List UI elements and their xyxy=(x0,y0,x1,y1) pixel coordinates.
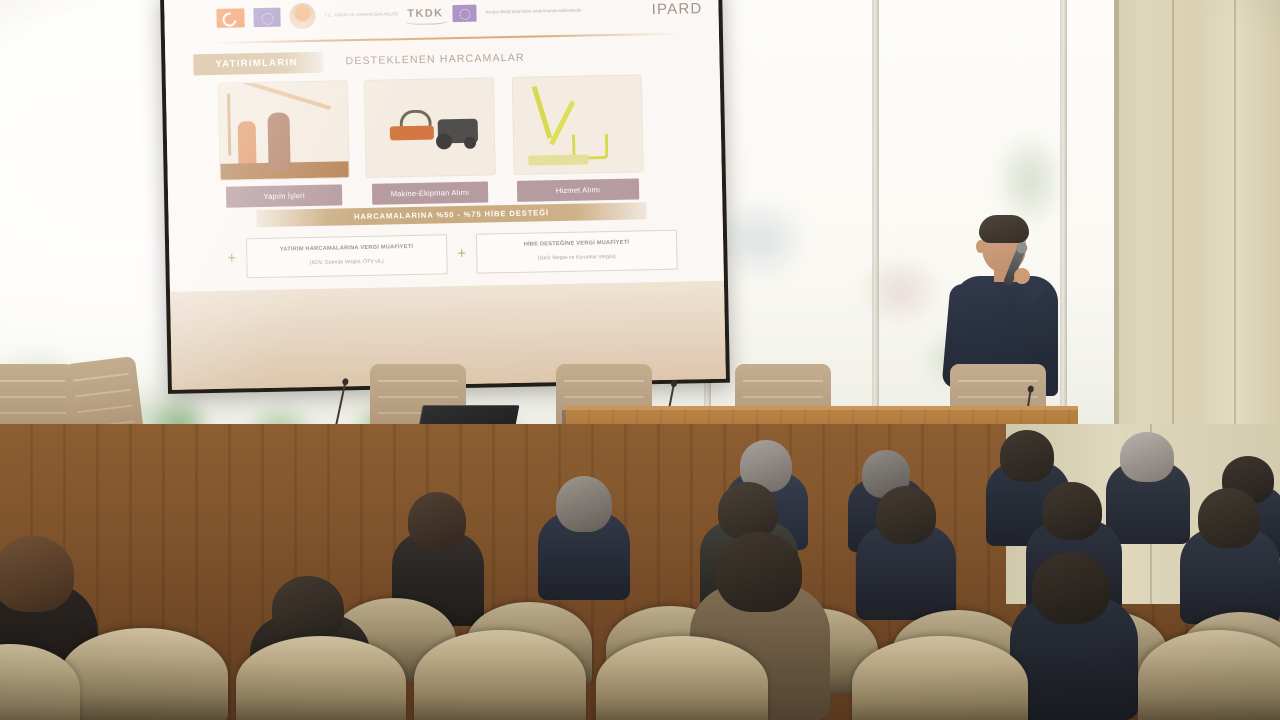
slide-card: Yapım İşleri xyxy=(218,80,348,203)
speaker-hair xyxy=(979,215,1029,243)
audience-head xyxy=(876,486,936,544)
wall-panel-seam xyxy=(1234,0,1236,470)
slide-benefit-row: + YATIRIM HARCAMALARINA VERGİ MUAFİYETİ … xyxy=(227,230,678,279)
benefit-title: HİBE DESTEĞİNE VERGİ MUAFİYETİ xyxy=(483,238,670,251)
implement xyxy=(390,126,434,141)
crane-mast xyxy=(227,94,231,156)
slide-benefit-box: YATIRIM HARCAMALARINA VERGİ MUAFİYETİ (K… xyxy=(246,234,448,278)
speaker-ear xyxy=(976,240,985,253)
turkey-flag-icon xyxy=(216,8,244,28)
screen-surface: T.C. TARIM VE ORMAN BAKANLIĞI TKDK Avrup… xyxy=(164,0,726,390)
speaker-right-hand xyxy=(1014,268,1030,284)
slide-logo-bar: T.C. TARIM VE ORMAN BAKANLIĞI TKDK Avrup… xyxy=(164,0,719,42)
ministry-label: T.C. TARIM VE ORMAN BAKANLIĞI xyxy=(324,11,398,19)
slide-card: Hizmet Alımı xyxy=(512,74,642,197)
slide-header-rest: DESTEKLENEN HARCAMALAR xyxy=(345,52,524,68)
eu-flag-icon xyxy=(452,4,476,21)
slide-grant-band: HARCAMALARINA %50 - %75 HİBE DESTEĞİ xyxy=(256,202,646,227)
audience-head xyxy=(408,492,466,550)
audience-head xyxy=(556,476,612,532)
presentation-slide: T.C. TARIM VE ORMAN BAKANLIĞI TKDK Avrup… xyxy=(164,0,724,296)
eu-flag-icon xyxy=(253,7,280,27)
construction-site-photo xyxy=(218,80,350,181)
slide-card-label: Makine-Ekipman Alımı xyxy=(372,181,488,205)
tkdk-logo: TKDK xyxy=(407,7,443,20)
slide-cards: Yapım İşleri Makine-Ekipman Alımı xyxy=(218,74,680,203)
audience-head xyxy=(1120,432,1174,482)
excavator-base xyxy=(528,154,588,165)
ministry-emblem-icon xyxy=(289,3,316,30)
plus-icon: + xyxy=(457,245,466,262)
audience-head xyxy=(1042,482,1102,540)
slide-header: YATIRIMLARIN DESTEKLENEN HARCAMALAR xyxy=(193,41,693,77)
plus-icon: + xyxy=(227,250,236,267)
auditorium-seat xyxy=(596,636,768,720)
audience-head xyxy=(718,482,778,540)
excavator-illustration xyxy=(512,74,644,175)
slide-grant-band-text: HARCAMALARINA %50 - %75 HİBE DESTEĞİ xyxy=(354,208,549,221)
benefit-sub: (Gelir Vergisi ve Kurumlar Vergisi) xyxy=(483,252,670,264)
excavator-arm xyxy=(532,86,553,139)
benefit-sub: (KDV, Gümrük Vergisi, ÖTV vb.) xyxy=(253,257,440,269)
slide-header-pill: YATIRIMLARIN xyxy=(193,51,324,75)
tractor-wheel xyxy=(436,133,452,149)
audience-head xyxy=(1032,552,1110,624)
tractor-field-photo xyxy=(364,77,496,178)
auditorium-seat xyxy=(236,636,406,720)
auditorium-seat xyxy=(414,630,586,720)
projection-screen: T.C. TARIM VE ORMAN BAKANLIĞI TKDK Avrup… xyxy=(160,0,730,394)
slide-card-label: Hizmet Alımı xyxy=(517,178,639,202)
audience-head xyxy=(272,576,344,642)
side-wood-wall xyxy=(1114,0,1280,470)
audience-head xyxy=(0,536,74,612)
ground xyxy=(220,161,348,180)
slide-benefit-box: HİBE DESTEĞİNE VERGİ MUAFİYETİ (Gelir Ve… xyxy=(476,230,678,274)
slide-card: Makine-Ekipman Alımı xyxy=(364,77,494,200)
benefit-title: YATIRIM HARCAMALARINA VERGİ MUAFİYETİ xyxy=(253,242,440,255)
wall-panel-seam xyxy=(1172,0,1174,470)
audience-head xyxy=(1000,430,1054,482)
audience-area xyxy=(0,424,1280,720)
eu-funding-label: Avrupa Birliği tarafından ortak finanse … xyxy=(485,7,581,16)
conference-photo: T.C. TARIM VE ORMAN BAKANLIĞI TKDK Avrup… xyxy=(0,0,1280,720)
slide-card-label: Yapım İşleri xyxy=(226,184,342,208)
tractor-wheel xyxy=(464,137,476,149)
crane-icon xyxy=(218,80,331,110)
auditorium-seat xyxy=(60,628,228,720)
audience-head xyxy=(1198,488,1260,548)
audience-head xyxy=(716,532,802,612)
ipard-logo: IPARD xyxy=(652,0,703,18)
